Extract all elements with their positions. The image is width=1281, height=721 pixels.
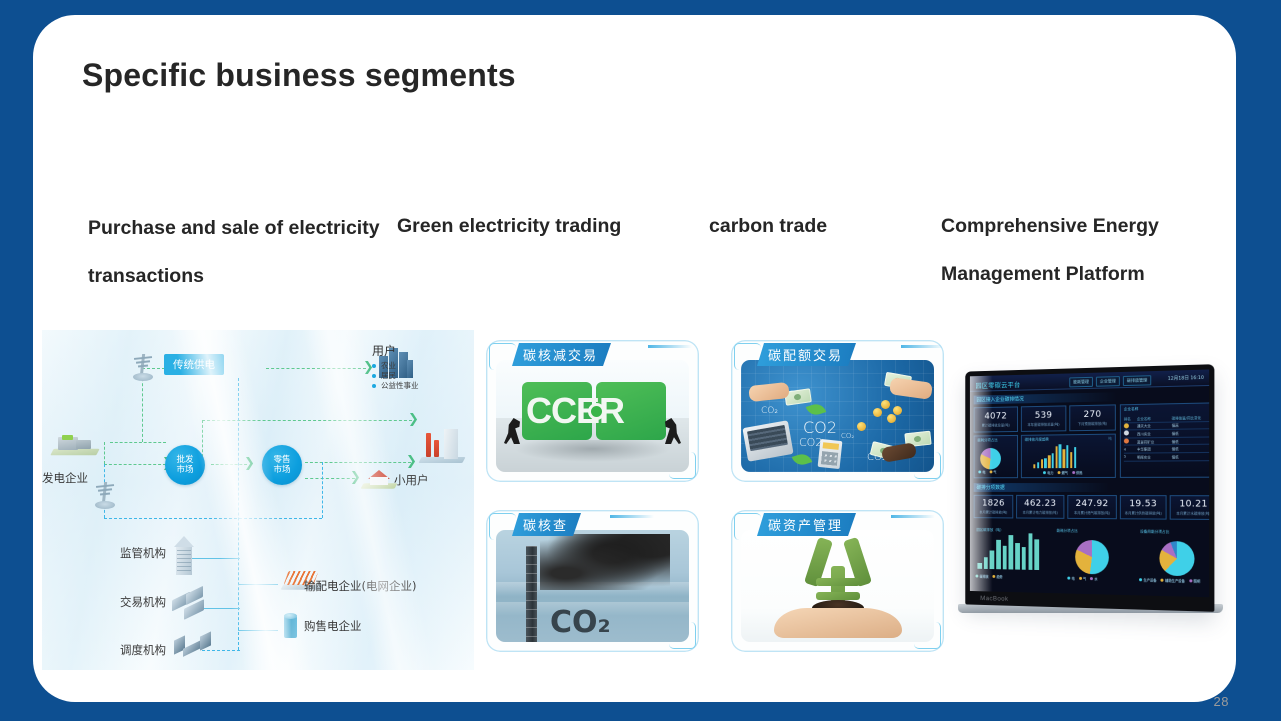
- legend-item: 燃气: [1057, 470, 1068, 475]
- cell-value: 偏低: [1172, 430, 1209, 436]
- factory-icon: [420, 422, 464, 466]
- legend-label: 碳排放: [980, 574, 989, 579]
- retail-market-node: 零售 市场: [262, 445, 302, 485]
- kpi-card: 539 本年度碳排放总量(吨): [1021, 405, 1066, 432]
- card-ribbon-label: 碳核查: [512, 513, 581, 536]
- flow-line: [104, 442, 105, 464]
- kpi-caption: 本月累计供热碳排放(吨): [1125, 510, 1162, 515]
- label-exchange: 交易机构: [120, 594, 166, 610]
- flow-arrow: ❯: [406, 458, 417, 466]
- institution-connector: [238, 584, 278, 585]
- data-table: 排名 企业名称 碳排放量/同比变化 通天大业 偏高 西川实业 偏低: [1124, 414, 1209, 462]
- dashboard-tabs[interactable]: 能耗管理 企业管理 碳排放管理: [1069, 375, 1151, 387]
- kpi-value: 462.23: [1024, 499, 1056, 509]
- panel-title: 能耗分项占比: [977, 438, 997, 443]
- cell-name: 西川实业: [1137, 431, 1172, 437]
- regulator-building-icon: [168, 535, 202, 575]
- tab-enterprise-management[interactable]: 企业管理: [1096, 376, 1120, 387]
- flow-arrow: ❯: [350, 474, 361, 482]
- plant-bar: [816, 578, 860, 586]
- kpi-value: 539: [1035, 411, 1052, 421]
- legend-item: 电: [978, 469, 985, 474]
- kpi-caption: 本月累计碳排放(吨): [979, 509, 1007, 514]
- smokestack-photo: CO₂: [496, 530, 689, 642]
- coin-icon: [881, 400, 890, 409]
- dispatch-arrow-icon: [174, 632, 214, 660]
- legend-item: 辅助生产设备: [1161, 578, 1185, 584]
- ccer-illustration: CCER: [496, 360, 689, 472]
- traditional-supply-pill: 传统供电: [164, 354, 224, 375]
- cell-name: 蓝景同矿业: [1137, 439, 1172, 444]
- cell-value: 偏低: [1172, 438, 1209, 444]
- tab-energy-management[interactable]: 能耗管理: [1069, 377, 1093, 388]
- ribbon-tail: [648, 345, 692, 348]
- plant-bar: [816, 592, 860, 600]
- flow-arrow: ❯: [244, 460, 255, 468]
- kpi-card: 1826 本月累计碳排放(吨): [974, 495, 1014, 519]
- flow-arrow: ❯: [408, 416, 419, 424]
- flow-line: [266, 368, 366, 369]
- legend-label: 电: [1072, 576, 1075, 581]
- pie-chart: [1159, 541, 1194, 576]
- panel-title: 能耗分项占比: [1057, 529, 1078, 534]
- panel-unit: 吨: [1108, 437, 1112, 442]
- panel-enterprise-ranking: 企业名称 排名 企业名称 碳排放量/同比变化 通天大业 偏高: [1120, 402, 1209, 478]
- node-line-2: 市场: [273, 465, 290, 475]
- flow-line: [110, 442, 166, 443]
- users-legend-title: 用户: [372, 342, 419, 359]
- section-header-carbon: 园区接入企业碳排情况: [974, 392, 1117, 404]
- exchange-blocks-icon: [172, 588, 214, 618]
- panel-park-emissions: 园区碳排放（吨） 碳排放 趋势: [974, 526, 1050, 582]
- kpi-card: 462.23 本月累计电力碳排放(吨): [1016, 495, 1064, 519]
- kpi-card: 19.53 本月累计供热碳排放(吨): [1120, 495, 1167, 520]
- carbon-card-ccer[interactable]: CCER 碳核减交易: [486, 340, 699, 482]
- page-title: Specific business segments: [82, 57, 516, 94]
- cell-rank: 4: [1124, 447, 1137, 451]
- users-legend: 用户 农业 居民 公益性事业: [372, 342, 419, 391]
- label-dispatch: 调度机构: [120, 642, 166, 658]
- legend-label: 电力: [1047, 470, 1053, 475]
- flow-line: [305, 462, 411, 463]
- label-small-user: 小用户: [394, 472, 429, 488]
- kpi-caption: 本月累计电力碳排放(吨): [1023, 510, 1058, 515]
- kpi-caption: 本月累计燃气碳排放(吨): [1074, 510, 1110, 515]
- legend-label: 生产设备: [1143, 577, 1156, 582]
- pie-legend: 电 气: [978, 469, 996, 474]
- card-ribbon-label: 碳资产管理: [757, 513, 856, 536]
- label-generation: 发电企业: [42, 470, 88, 486]
- cell-name: 丰华集团: [1137, 446, 1172, 451]
- laptop-screen: MacBook 园区零碳云平台 能耗管理 企业管理 碳排放管理 12月18日 1…: [965, 364, 1214, 612]
- kpi-value: 19.53: [1129, 499, 1157, 509]
- legend-label: 趋势: [997, 574, 1003, 579]
- kpi-value: 270: [1083, 410, 1101, 420]
- legend-item: 照明: [1189, 578, 1200, 583]
- flow-line: [211, 464, 247, 465]
- flow-line: [305, 478, 355, 479]
- legend-item: 气: [1079, 576, 1086, 581]
- carbon-card-verification[interactable]: CO₂ 碳核查: [486, 510, 699, 652]
- panel-device-pie: 设备用能分项占比 生产设备 辅助生产设备 照明: [1137, 527, 1209, 586]
- energy-dashboard: 园区零碳云平台 能耗管理 企业管理 碳排放管理 12月18日 16:10 园区接…: [970, 369, 1209, 597]
- label-retail-company: 购售电企业: [304, 618, 362, 634]
- users-legend-item: 公益性事业: [372, 381, 419, 391]
- table-row: 5 明辉实业 偏低: [1124, 453, 1209, 461]
- column-header: 排名: [1124, 416, 1137, 421]
- flow-line: [202, 420, 412, 421]
- node-line-1: 批发: [176, 455, 193, 465]
- kpi-value: 4072: [984, 412, 1007, 422]
- panel-energy-pie: 能耗分项占比 电 气 水: [1054, 527, 1135, 584]
- column-heading-green-electricity: Green electricity trading: [397, 202, 697, 250]
- column-header: 企业名称: [1137, 415, 1172, 421]
- panel-title: 企业名称: [1124, 407, 1139, 412]
- legend-item: 气: [989, 469, 996, 474]
- bar-chart: [1033, 444, 1076, 468]
- flow-line: [104, 464, 166, 465]
- cell-name: 通天大业: [1137, 423, 1172, 429]
- flow-line-blue: [322, 462, 323, 518]
- card-artwork: CCER: [496, 360, 689, 472]
- co2-text: CO2: [803, 418, 837, 437]
- card-ribbon-label: 碳配额交易: [757, 343, 856, 366]
- pie-chart: [980, 448, 1001, 470]
- ground-shadow: [514, 440, 671, 462]
- card-artwork: [741, 530, 934, 642]
- users-legend-item: 居民: [372, 371, 419, 381]
- cell-value: 偏低: [1172, 454, 1209, 459]
- kpi-caption: 下月预测碳排放(吨): [1078, 421, 1108, 426]
- legend-label: 气: [1083, 576, 1086, 581]
- pie-chart: [1075, 540, 1109, 575]
- flow-line-blue: [104, 518, 322, 519]
- coin-icon: [893, 406, 902, 415]
- chart-legend: 电力 燃气 供热: [1043, 470, 1082, 475]
- card-artwork: CO₂ CO2 CO₂ CO2 CO₂ CO2: [741, 360, 934, 472]
- laptop-brand-label: MacBook: [980, 595, 1008, 603]
- legend-item: 趋势: [992, 574, 1002, 579]
- legend-label: 照明: [1194, 578, 1201, 583]
- legend-label: 水: [1094, 576, 1097, 581]
- cell-value: 偏高: [1172, 422, 1209, 428]
- dashboard-timestamp: 12月18日 16:10: [1168, 375, 1204, 382]
- kpi-card: 4072 累计碳排放总量(吨): [974, 406, 1018, 432]
- smoke-plume: [540, 534, 670, 590]
- coin-icon: [887, 414, 896, 423]
- kpi-caption: 本年度碳排放总量(吨): [1028, 421, 1060, 426]
- legend-item: 电: [1067, 576, 1074, 581]
- quota-illustration: CO₂ CO2 CO₂ CO2 CO₂ CO2: [741, 360, 934, 472]
- legend-item: 供热: [1072, 470, 1083, 475]
- kpi-value: 1826: [982, 499, 1005, 509]
- legend-label: 燃气: [1062, 470, 1068, 475]
- panel-title: 设备用能分项占比: [1140, 530, 1169, 535]
- page-number: 28: [1214, 694, 1229, 709]
- users-legend-item: 农业: [372, 361, 419, 371]
- legend-item: 碳排放: [976, 574, 989, 579]
- flow-line-blue: [238, 378, 239, 650]
- calculator-icon: [818, 439, 843, 469]
- kpi-caption: 累计碳排放总量(吨): [982, 422, 1010, 427]
- label-regulator: 监管机构: [120, 545, 166, 561]
- chart-legend: 碳排放 趋势: [976, 574, 1003, 579]
- dashboard-title: 园区零碳云平台: [976, 379, 1021, 390]
- cell-rank: 5: [1124, 455, 1137, 459]
- column-header: 碳排放量/同比变化: [1172, 415, 1209, 421]
- ribbon-tail: [901, 345, 944, 348]
- legend-label: 辅助生产设备: [1165, 578, 1185, 584]
- cell-value: 偏低: [1172, 446, 1209, 452]
- kpi-card: 247.92 本月累计燃气碳排放(吨): [1067, 495, 1117, 519]
- retail-cylinder-icon: [282, 612, 300, 642]
- pie-legend: 生产设备 辅助生产设备 照明: [1139, 577, 1200, 583]
- column-heading-carbon-trade: carbon trade: [709, 202, 929, 250]
- label-grid-company: 输配电企业(电网企业): [304, 578, 416, 594]
- yen-tree-photo: [741, 530, 934, 642]
- coin-icon: [873, 408, 882, 417]
- tab-carbon-management[interactable]: 碳排放管理: [1123, 375, 1151, 386]
- electricity-market-diagram: ❯ ❯ ❯ ❯ ❯ ❯ ❯ 传统供电 批发 市场 零售 市场: [42, 330, 474, 670]
- power-plant-icon: [52, 428, 98, 458]
- house-icon: [362, 465, 396, 491]
- cell-name: 明辉实业: [1137, 454, 1172, 459]
- co2-text: CO₂: [761, 406, 778, 416]
- ribbon-tail: [891, 515, 935, 518]
- panel-title: 碳排放月度趋势: [1025, 437, 1049, 442]
- co2-overlay-text: CO₂: [550, 605, 611, 640]
- ccer-center-dot: [591, 406, 602, 417]
- card-artwork: CO₂: [496, 530, 689, 642]
- legend-item: 水: [1090, 576, 1098, 581]
- legend-label: 供热: [1076, 470, 1082, 475]
- kpi-card: 10.21 本月累计水碳排放(吨): [1170, 495, 1209, 520]
- node-line-2: 市场: [176, 465, 193, 475]
- card-ribbon-label: 碳核减交易: [512, 343, 611, 366]
- legend-label: 气: [993, 469, 996, 474]
- pie-legend: 电 气 水: [1067, 576, 1097, 582]
- panel-monthly-trend: 碳排放月度趋势 吨 电力 燃气 供热: [1021, 434, 1116, 479]
- presentation-slide: Specific business segments Purchase and …: [0, 0, 1281, 721]
- ccer-logo-text: CCER: [526, 390, 624, 432]
- kpi-value: 10.21: [1179, 499, 1207, 509]
- transmission-tower-icon: [132, 354, 154, 384]
- column-heading-electricity: Purchase and sale of electricity transac…: [88, 204, 388, 300]
- bar-chart: [977, 532, 1038, 570]
- section-header-subitems: 碳排分项数据: [974, 483, 1109, 492]
- chimney: [526, 546, 537, 642]
- coin-icon: [857, 422, 866, 431]
- kpi-card: 270 下月预测碳排放(吨): [1069, 404, 1116, 431]
- node-line-1: 零售: [273, 455, 290, 465]
- panel-energy-donut: 能耗分项占比 电 气: [974, 435, 1018, 478]
- laptop-mockup: MacBook 园区零碳云平台 能耗管理 企业管理 碳排放管理 12月18日 1…: [952, 368, 1220, 638]
- open-palm: [774, 608, 902, 638]
- carbon-card-asset-management[interactable]: 碳资产管理: [731, 510, 944, 652]
- transmission-tower-icon: [94, 482, 116, 512]
- kpi-caption: 本月累计水碳排放(吨): [1176, 510, 1209, 515]
- kpi-value: 247.92: [1076, 499, 1109, 509]
- legend-item: 生产设备: [1139, 577, 1156, 582]
- column-heading-energy-platform: Comprehensive Energy Management Platform: [941, 202, 1231, 298]
- ribbon-tail: [610, 515, 654, 518]
- carbon-card-quota[interactable]: CO₂ CO2 CO₂ CO2 CO₂ CO2: [731, 340, 944, 482]
- institution-connector: [238, 630, 278, 631]
- legend-item: 电力: [1043, 470, 1053, 475]
- legend-label: 电: [982, 469, 985, 474]
- wholesale-market-node: 批发 市场: [165, 445, 205, 485]
- co2-text: CO₂: [841, 432, 854, 440]
